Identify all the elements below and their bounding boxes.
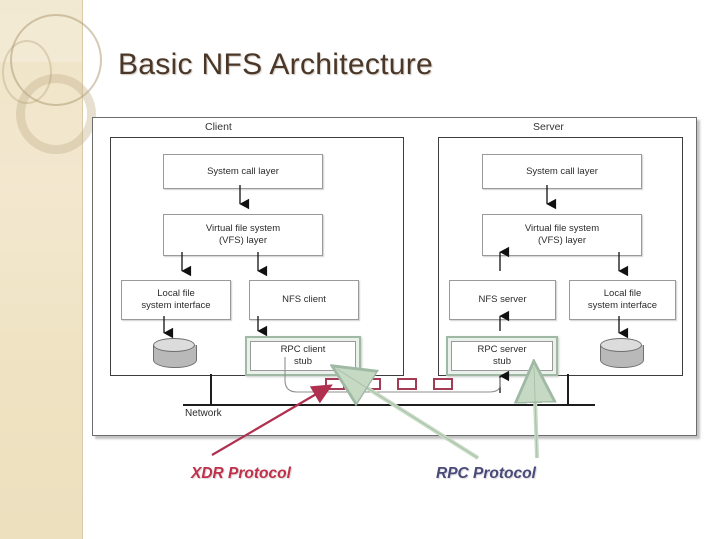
node-label: NFS client	[282, 294, 326, 306]
node-label: System call layer	[207, 166, 279, 178]
node-label-line1: Virtual file system	[525, 223, 599, 235]
stub-label-line2: stub	[294, 356, 312, 368]
server-local-fs-interface: Local file system interface	[569, 280, 676, 320]
node-label-line2: (VFS) layer	[538, 235, 586, 247]
client-disk-cylinder	[153, 338, 197, 372]
xdr-protocol-label: XDR Protocol	[191, 465, 291, 483]
node-label-line1: Virtual file system	[206, 223, 280, 235]
server-rpc-stub: RPC server stub	[446, 336, 558, 376]
server-system-call-layer: System call layer	[482, 154, 642, 189]
network-packet	[325, 378, 345, 390]
network-packet	[433, 378, 453, 390]
server-host-box: System call layer Virtual file system (V…	[438, 137, 683, 376]
node-label-line2: system interface	[141, 300, 210, 312]
client-nfs-client: NFS client	[249, 280, 359, 320]
client-vfs-layer: Virtual file system (VFS) layer	[163, 214, 323, 256]
server-bus-drop	[567, 374, 569, 405]
network-bus-line	[183, 404, 595, 406]
decorative-ring-small	[2, 40, 52, 104]
node-label-line1: Local file	[157, 288, 195, 300]
stub-label-line2: stub	[493, 356, 511, 368]
client-rpc-stub: RPC client stub	[245, 336, 361, 376]
server-vfs-layer: Virtual file system (VFS) layer	[482, 214, 642, 256]
node-label: NFS server	[478, 294, 526, 306]
server-nfs-server: NFS server	[449, 280, 556, 320]
node-label-line2: (VFS) layer	[219, 235, 267, 247]
client-system-call-layer: System call layer	[163, 154, 323, 189]
node-label-line1: Local file	[604, 288, 642, 300]
client-bus-drop	[210, 374, 212, 405]
network-packet	[397, 378, 417, 390]
server-label: Server	[533, 121, 564, 133]
page-title: Basic NFS Architecture	[118, 48, 433, 82]
diagram-frame: Client Server System call layer Virtual …	[92, 117, 697, 436]
stub-label-line1: RPC server	[477, 344, 526, 356]
server-disk-cylinder	[600, 338, 644, 372]
client-local-fs-interface: Local file system interface	[121, 280, 231, 320]
node-label-line2: system interface	[588, 300, 657, 312]
slide-decorative-band	[0, 0, 83, 539]
network-packet	[361, 378, 381, 390]
client-host-box: System call layer Virtual file system (V…	[110, 137, 404, 376]
client-label: Client	[205, 121, 232, 133]
stub-label-line1: RPC client	[281, 344, 326, 356]
network-label: Network	[185, 408, 222, 419]
rpc-protocol-label: RPC Protocol	[436, 465, 536, 483]
node-label: System call layer	[526, 166, 598, 178]
